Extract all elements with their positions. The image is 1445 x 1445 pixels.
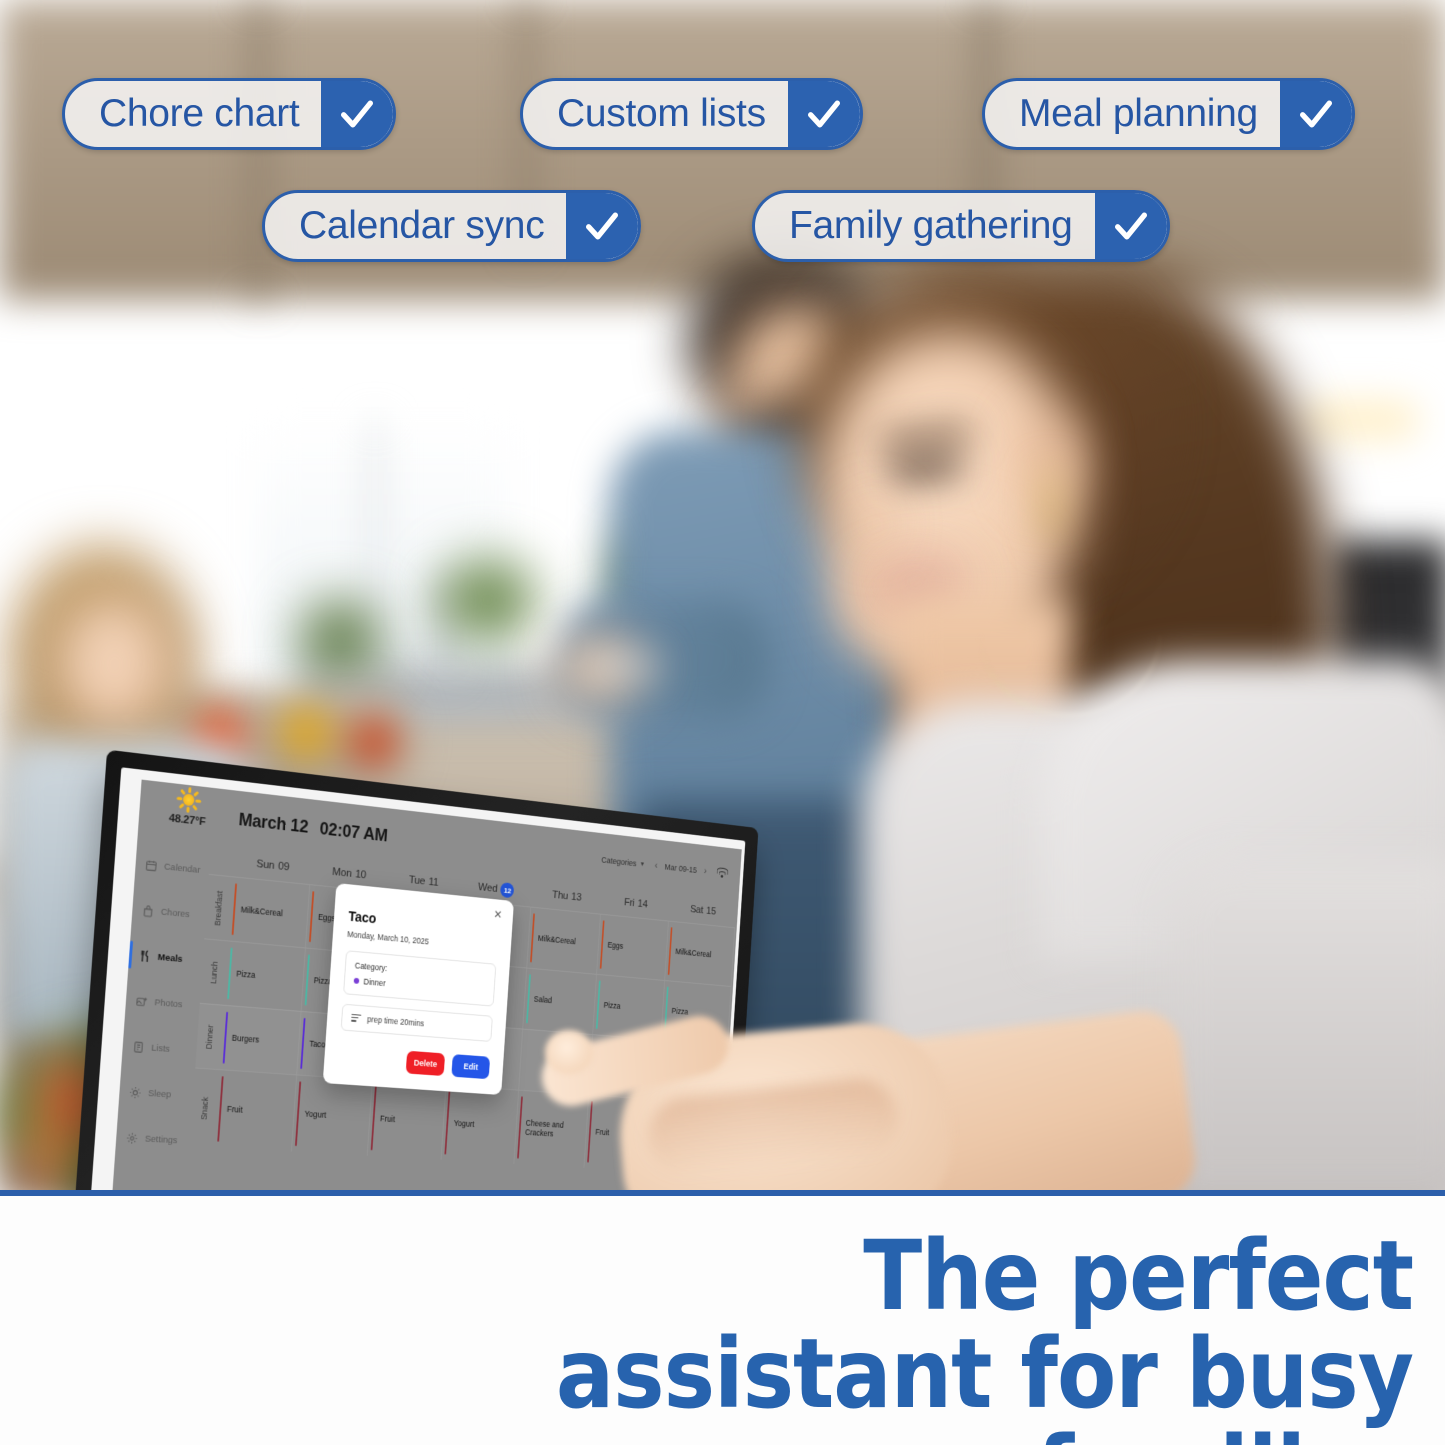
lists-icon — [132, 1040, 145, 1054]
notes-icon — [351, 1014, 361, 1022]
feature-pill-family-gathering: Family gathering — [752, 190, 1170, 262]
sidebar-item-label: Chores — [161, 906, 191, 920]
meal-cell[interactable]: Yogurt — [442, 1086, 519, 1164]
today-badge: 12 — [500, 882, 514, 898]
day-name: Sun — [256, 858, 275, 871]
potted-plant — [440, 560, 535, 640]
week-range-label: Mar 09-15 — [664, 862, 697, 875]
meal-cell[interactable]: Burgers — [219, 1006, 301, 1075]
check-icon — [321, 81, 393, 147]
knife — [588, 658, 658, 674]
day-number: 13 — [571, 891, 582, 903]
check-icon — [788, 81, 860, 147]
cabinet-seam — [252, 0, 266, 300]
meal-cell[interactable]: Fruit — [214, 1070, 297, 1151]
categories-label: Categories — [601, 855, 637, 868]
close-icon[interactable]: ✕ — [493, 908, 502, 920]
meal-cell[interactable]: Salad — [523, 968, 597, 1034]
kitchen-window — [258, 420, 508, 690]
categories-dropdown[interactable]: Categories ▼ — [601, 855, 645, 869]
chevron-left-icon[interactable]: ‹ — [654, 860, 658, 871]
edit-button[interactable]: Edit — [451, 1054, 490, 1079]
wifi-icon — [716, 867, 728, 879]
kitchen-cabinets — [0, 0, 1445, 300]
sidebar-item-label: Meals — [157, 951, 183, 964]
day-name: Tue — [408, 874, 425, 887]
notes-value: prep time 20mins — [367, 1014, 424, 1028]
category-box: Category: Dinner — [343, 950, 496, 1006]
meal-cell[interactable]: Eggs — [597, 915, 669, 980]
chores-icon — [142, 903, 155, 917]
day-name: Sat — [690, 904, 704, 916]
category-value: Dinner — [363, 977, 386, 988]
feature-pill-label: Chore chart — [65, 81, 321, 147]
weather-widget[interactable]: 48.27°F — [150, 783, 226, 830]
meal-cell[interactable]: Fruit — [368, 1081, 447, 1160]
feature-pill-meal-planning: Meal planning — [982, 78, 1355, 150]
meal-cell[interactable]: Pizza — [224, 941, 306, 1010]
delete-button[interactable]: Delete — [406, 1051, 445, 1076]
tagline: The perfect assistant for busy families — [213, 1228, 1413, 1445]
sidebar-item-settings[interactable]: Settings — [115, 1114, 192, 1164]
calendar-icon — [145, 858, 158, 872]
sidebar-item-photos[interactable]: Photos — [124, 977, 201, 1028]
feature-pill-label: Family gathering — [755, 193, 1095, 259]
check-icon — [566, 193, 638, 259]
sidebar-item-sleep[interactable]: Sleep — [118, 1068, 195, 1118]
feature-pill-label: Custom lists — [523, 81, 788, 147]
category-color-dot — [354, 978, 360, 984]
date-time-display: March 12 02:07 AM — [238, 809, 388, 846]
meal-cell[interactable]: Milk&Cereal — [527, 908, 601, 974]
day-number: 09 — [278, 861, 290, 874]
feature-pill-custom-lists: Custom lists — [520, 78, 863, 150]
feature-pill-label: Calendar sync — [265, 193, 566, 259]
woman-nose — [852, 490, 892, 550]
meal-detail-modal: ✕ Taco Monday, March 10, 2025 Category: … — [323, 883, 514, 1095]
current-date: March 12 — [238, 809, 309, 836]
week-navigator: ‹ Mar 09-15 › — [654, 860, 707, 877]
meal-cell[interactable]: Milk&Cereal — [228, 877, 310, 947]
day-name: Wed — [478, 882, 498, 895]
header-controls: Categories ▼ ‹ Mar 09-15 › — [601, 854, 731, 879]
current-time: 02:07 AM — [319, 818, 388, 845]
earring — [1042, 468, 1060, 540]
tagline-line-1: The perfect — [863, 1220, 1413, 1332]
chevron-down-icon: ▼ — [639, 861, 645, 868]
day-number: 14 — [637, 898, 648, 910]
check-icon — [1095, 193, 1167, 259]
feature-pill-chore-chart: Chore chart — [62, 78, 396, 150]
sidebar-item-label: Calendar — [164, 861, 201, 875]
feature-pill-calendar-sync: Calendar sync — [262, 190, 641, 262]
fingertip — [545, 1030, 593, 1074]
sidebar-item-label: Sleep — [148, 1088, 172, 1100]
sun-icon — [176, 786, 202, 814]
tagline-line-2: assistant for busy families — [213, 1326, 1413, 1445]
day-name: Mon — [332, 866, 352, 879]
potted-plant — [300, 600, 380, 680]
sidebar-item-label: Lists — [151, 1042, 170, 1054]
gear-icon — [125, 1131, 138, 1145]
photos-icon — [135, 994, 148, 1008]
sleep-icon — [129, 1085, 142, 1099]
sidebar-item-label: Photos — [154, 997, 183, 1010]
sidebar-item-label: Settings — [145, 1133, 178, 1146]
day-name: Fri — [624, 897, 635, 909]
check-icon — [1280, 81, 1352, 147]
modal-actions: Delete Edit — [338, 1046, 490, 1080]
child-face — [55, 595, 175, 735]
sidebar-item-meals[interactable]: Meals — [128, 932, 205, 984]
temperature-value: 48.27°F — [169, 812, 206, 828]
sidebar-item-lists[interactable]: Lists — [121, 1023, 198, 1074]
day-number: 11 — [428, 876, 439, 888]
notes-field[interactable]: prep time 20mins — [341, 1004, 493, 1042]
feature-pill-label: Meal planning — [985, 81, 1280, 147]
under-cabinet-light — [1300, 400, 1420, 440]
sidebar-item-chores[interactable]: Chores — [131, 886, 208, 938]
meal-cell[interactable]: Milk&Cereal — [665, 922, 735, 987]
woman-sleeve — [1170, 860, 1445, 1192]
meals-icon — [138, 949, 151, 963]
meal-cell[interactable]: Yogurt — [292, 1075, 373, 1155]
sidebar-item-calendar[interactable]: Calendar — [134, 841, 211, 894]
day-name: Thu — [552, 889, 569, 902]
chevron-right-icon[interactable]: › — [704, 866, 708, 877]
day-number: 15 — [706, 906, 716, 918]
day-number: 10 — [355, 869, 367, 882]
